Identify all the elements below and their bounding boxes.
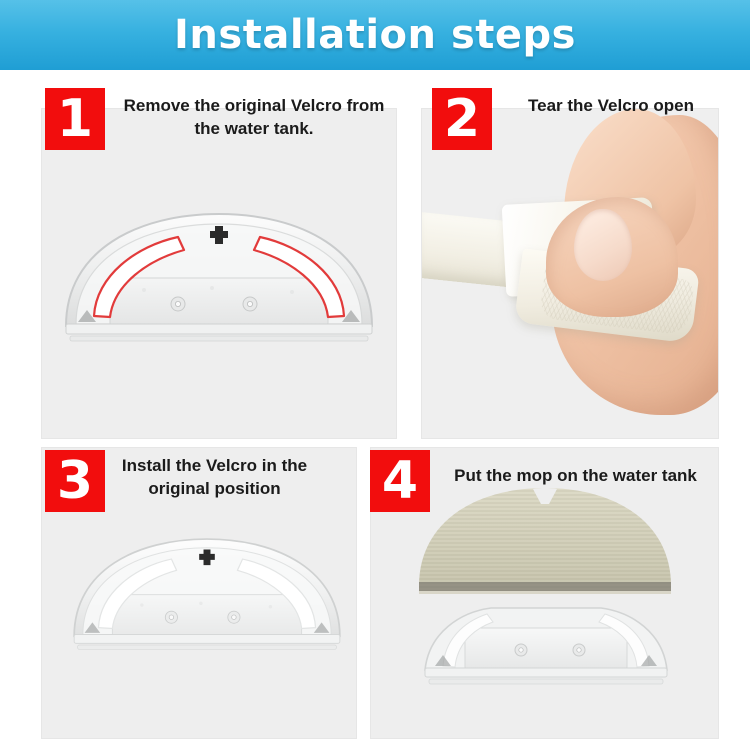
installation-steps-infographic: Installation steps — [0, 0, 750, 750]
water-tank-illustration-step4 — [421, 598, 671, 698]
step-caption-3: Install the Velcro in the original posit… — [112, 455, 317, 501]
water-tank-illustration-step1 — [52, 204, 386, 354]
step-caption-2: Tear the Velcro open — [505, 95, 717, 118]
step-number-badge-2: 2 — [432, 88, 492, 150]
thumbnail-shape — [574, 209, 632, 281]
header-banner: Installation steps — [0, 0, 750, 70]
step-caption-1: Remove the original Velcro from the wate… — [118, 95, 390, 141]
mop-pad-illustration — [413, 482, 678, 606]
step-panel-1 — [41, 108, 397, 439]
step-number-badge-3: 3 — [45, 450, 105, 512]
page-title: Installation steps — [174, 12, 576, 58]
step-caption-4: Put the mop on the water tank — [434, 465, 717, 488]
step-number-badge-1: 1 — [45, 88, 105, 150]
velcro-peeling-photo — [422, 109, 718, 438]
step-panel-2 — [421, 108, 719, 439]
water-tank-illustration-step3 — [62, 528, 352, 663]
step-number-badge-4: 4 — [370, 450, 430, 512]
